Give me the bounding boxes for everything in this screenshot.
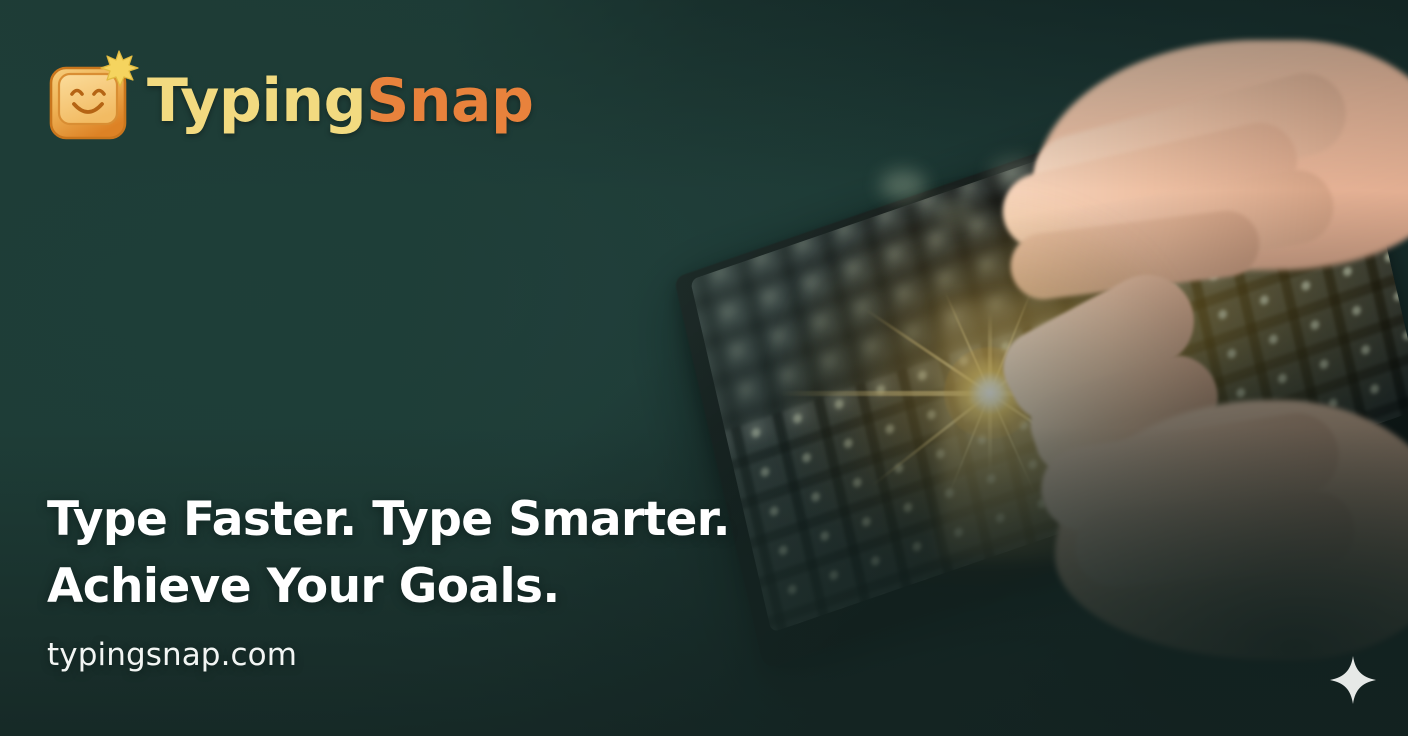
keycap-smiley-icon bbox=[47, 58, 133, 144]
banner-content: TypingSnap Type Faster. Type Smarter. Ac… bbox=[0, 0, 1408, 736]
promo-banner: TypingSnap Type Faster. Type Smarter. Ac… bbox=[0, 0, 1408, 736]
snap-burst-icon bbox=[99, 49, 139, 89]
headline-line-1: Type Faster. Type Smarter. bbox=[47, 487, 730, 554]
headline-line-2: Achieve Your Goals. bbox=[47, 554, 730, 621]
brand-wordmark: TypingSnap bbox=[147, 71, 533, 131]
wordmark-snap: Snap bbox=[366, 66, 533, 136]
headline: Type Faster. Type Smarter. Achieve Your … bbox=[47, 487, 730, 620]
wordmark-typing: Typing bbox=[147, 66, 366, 136]
brand-logo[interactable]: TypingSnap bbox=[47, 58, 533, 144]
domain-text[interactable]: typingsnap.com bbox=[47, 637, 297, 673]
four-point-star-icon bbox=[1329, 655, 1377, 705]
